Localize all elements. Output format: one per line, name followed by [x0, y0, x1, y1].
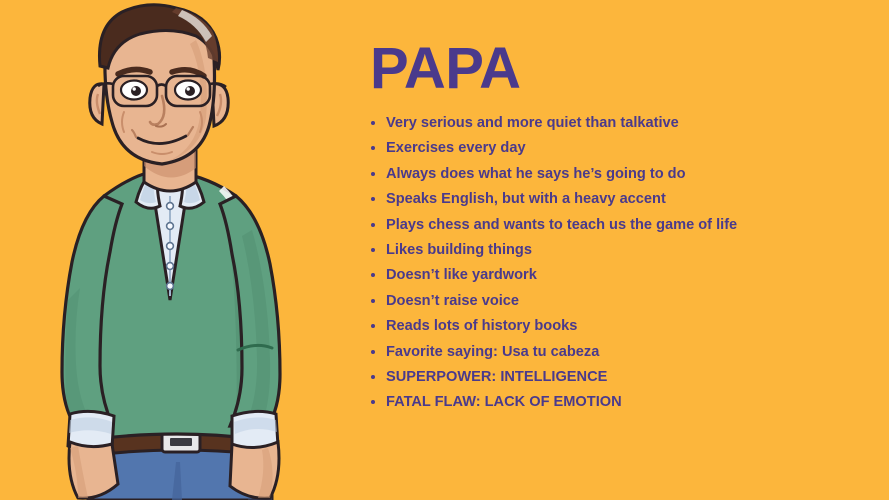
list-item: Doesn’t raise voice [368, 290, 873, 315]
bullet-dot-icon [371, 248, 375, 252]
list-item-label: Always does what he says he’s going to d… [386, 166, 686, 182]
list-item: Favorite saying: Usa tu cabeza [368, 341, 873, 366]
list-item-label: Favorite saying: Usa tu cabeza [386, 344, 599, 360]
list-item: Likes building things [368, 239, 873, 264]
list-item-label: SUPERPOWER: INTELLIGENCE [386, 369, 607, 385]
bullet-dot-icon [371, 172, 375, 176]
list-item-label: FATAL FLAW: LACK OF EMOTION [386, 394, 622, 410]
trait-list: Very serious and more quiet than talkati… [368, 112, 873, 417]
bullet-dot-icon [371, 375, 375, 379]
bullet-dot-icon [371, 273, 375, 277]
list-item: Very serious and more quiet than talkati… [368, 112, 873, 137]
list-item-label: Likes building things [386, 242, 532, 258]
bullet-dot-icon [371, 121, 375, 125]
list-item-label: Plays chess and wants to teach us the ga… [386, 217, 737, 233]
list-item: Doesn’t like yardwork [368, 264, 873, 289]
list-item: Reads lots of history books [368, 315, 873, 340]
bullet-dot-icon [371, 299, 375, 303]
list-item-label: Exercises every day [386, 140, 526, 156]
bullet-dot-icon [371, 400, 375, 404]
list-item: FATAL FLAW: LACK OF EMOTION [368, 391, 873, 416]
list-item-label: Doesn’t like yardwork [386, 267, 537, 283]
cartoon-man-character [0, 0, 350, 500]
head [90, 5, 228, 164]
presentation-slide: PAPA Very serious and more quiet than ta… [0, 0, 889, 500]
bullet-dot-icon [371, 223, 375, 227]
list-item-label: Speaks English, but with a heavy accent [386, 191, 666, 207]
page-title: PAPA [370, 40, 521, 98]
bullet-dot-icon [371, 197, 375, 201]
list-item: Speaks English, but with a heavy accent [368, 188, 873, 213]
text-content-column: PAPA Very serious and more quiet than ta… [368, 0, 873, 500]
bullet-dot-icon [371, 350, 375, 354]
list-item: Plays chess and wants to teach us the ga… [368, 214, 873, 239]
list-item: SUPERPOWER: INTELLIGENCE [368, 366, 873, 391]
bullet-dot-icon [371, 146, 375, 150]
list-item: Always does what he says he’s going to d… [368, 163, 873, 188]
list-item-label: Doesn’t raise voice [386, 293, 519, 309]
list-item-label: Reads lots of history books [386, 318, 577, 334]
list-item-label: Very serious and more quiet than talkati… [386, 115, 679, 131]
list-item: Exercises every day [368, 137, 873, 162]
bullet-dot-icon [371, 324, 375, 328]
